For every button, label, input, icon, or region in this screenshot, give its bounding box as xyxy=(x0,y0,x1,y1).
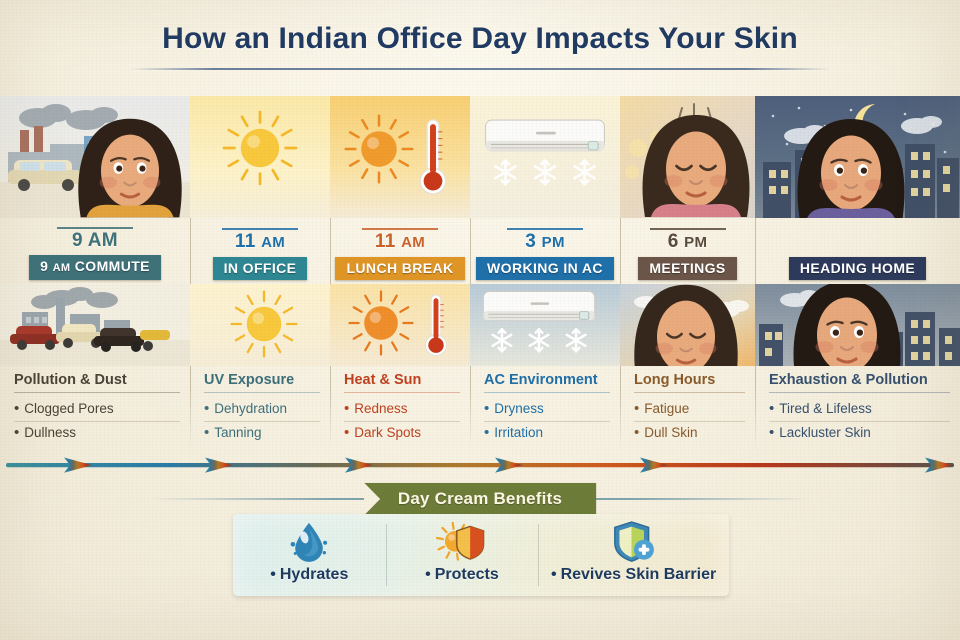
benefit-hydrates[interactable]: •Hydrates xyxy=(233,514,386,596)
effect-list-heading-home: •Tired & Lifeless•Lackluster Skin xyxy=(769,398,950,445)
timeline-arrow xyxy=(0,452,960,478)
timeline-column-heading-home: HEADING HOME xyxy=(755,96,960,456)
effect-list-commute: •Clogged Pores•Dullness xyxy=(14,398,180,445)
scene-traffic-smokestacks-scene xyxy=(0,284,190,366)
effect-item: •Fatigue xyxy=(634,398,745,421)
time-label-meetings: 6 PM xyxy=(668,232,708,253)
effect-item: •Irritation xyxy=(484,421,610,445)
stage-badge-meetings[interactable]: MEETINGS xyxy=(638,257,736,280)
scene-hot-sun-thermometer-scene xyxy=(330,96,470,218)
effect-list-in-office: •Dehydration•Tanning xyxy=(204,398,320,445)
water-drop-icon xyxy=(286,519,332,565)
time-badge-block-heading-home: HEADING HOME xyxy=(755,218,960,284)
timeline-column-working-in-ac: 3 PM WORKING IN AC xyxy=(470,96,620,456)
scene-air-conditioner-snowflakes-scene xyxy=(470,96,620,218)
stage-badge-in-office[interactable]: IN OFFICE xyxy=(213,257,308,280)
timeline-column-meetings: 6 PM MEETINGS Long Hours xyxy=(620,96,755,456)
effect-item: •Dehydration xyxy=(204,398,320,421)
scene-night-city-moon-commuter-scene xyxy=(755,96,960,218)
infographic-canvas: How an Indian Office Day Impacts Your Sk… xyxy=(0,0,960,640)
effect-item: •Dryness xyxy=(484,398,610,421)
timeline-column-lunch-break: 11 AM LUNCH BREAK Heat & Sun xyxy=(330,96,470,456)
scene-yellow-sun-icon xyxy=(190,284,330,366)
timeline-column-commute: 9 AM 9 AM COMMUTE Pollution & xyxy=(0,96,190,456)
timeline-column-in-office: 11 AM IN OFFICE UV Exposure •Dehydration… xyxy=(190,96,330,456)
effect-list-lunch-break: •Redness•Dark Spots xyxy=(344,398,460,445)
benefit-label: •Protects xyxy=(425,566,499,584)
effects-block-working-in-ac: AC Environment •Dryness•Irritation xyxy=(470,366,620,456)
effects-block-lunch-break: Heat & Sun •Redness•Dark Spots xyxy=(330,366,470,456)
scene-orange-sun-thermometer-icon xyxy=(330,284,470,366)
benefit-label: •Revives Skin Barrier xyxy=(551,566,716,584)
benefit-label: •Hydrates xyxy=(270,566,348,584)
effect-title-in-office: UV Exposure xyxy=(204,372,320,389)
effect-title-lunch-break: Heat & Sun xyxy=(344,372,460,389)
effect-item: •Dullness xyxy=(14,421,180,445)
benefits-panel: •Hydrates •Protects •Revives Skin Barrie… xyxy=(233,514,729,596)
scene-night-skyline-woman-scene xyxy=(755,284,960,366)
time-badge-block-working-in-ac: 3 PM WORKING IN AC xyxy=(470,218,620,284)
effect-title-working-in-ac: AC Environment xyxy=(484,372,610,389)
time-badge-block-meetings: 6 PM MEETINGS xyxy=(620,218,755,284)
effect-title-meetings: Long Hours xyxy=(634,372,745,389)
effects-block-in-office: UV Exposure •Dehydration•Tanning xyxy=(190,366,330,456)
time-label-commute: 9 AM xyxy=(72,231,118,251)
stage-badge-lunch-break[interactable]: LUNCH BREAK xyxy=(335,257,464,280)
effects-block-heading-home: Exhaustion & Pollution •Tired & Lifeless… xyxy=(755,366,960,456)
ribbon-rule-right xyxy=(596,498,810,500)
effect-item: •Lackluster Skin xyxy=(769,421,950,445)
effect-title-heading-home: Exhaustion & Pollution xyxy=(769,372,950,389)
time-label-working-in-ac: 3 PM xyxy=(525,232,565,253)
title-underline xyxy=(130,68,830,70)
stage-badge-commute[interactable]: 9 AM COMMUTE xyxy=(29,255,161,280)
benefit-revives-skin-barrier[interactable]: •Revives Skin Barrier xyxy=(538,514,729,596)
scene-tired-woman-meeting-scene xyxy=(620,96,755,218)
effect-list-working-in-ac: •Dryness•Irritation xyxy=(484,398,610,445)
time-label-lunch-break: 11 AM xyxy=(375,232,425,253)
shield-plus-icon xyxy=(610,519,658,565)
ribbon-rule-left xyxy=(150,498,364,500)
stage-badge-heading-home[interactable]: HEADING HOME xyxy=(789,257,926,280)
scene-city-pollution-commuter-scene xyxy=(0,96,190,218)
effects-block-meetings: Long Hours •Fatigue•Dull Skin xyxy=(620,366,755,456)
page-title: How an Indian Office Day Impacts Your Sk… xyxy=(0,22,960,56)
scene-bright-sun-scene xyxy=(190,96,330,218)
sun-shield-icon xyxy=(436,519,488,565)
effect-item: •Dull Skin xyxy=(634,421,745,445)
effect-item: •Tired & Lifeless xyxy=(769,398,950,421)
benefits-ribbon-label: Day Cream Benefits xyxy=(364,483,596,516)
effect-item: •Dark Spots xyxy=(344,421,460,445)
benefits-ribbon-row: Day Cream Benefits xyxy=(0,484,960,514)
effect-title-commute: Pollution & Dust xyxy=(14,372,180,389)
effect-list-meetings: •Fatigue•Dull Skin xyxy=(634,398,745,445)
effect-item: •Redness xyxy=(344,398,460,421)
time-badge-block-in-office: 11 AM IN OFFICE xyxy=(190,218,330,284)
effect-item: •Clogged Pores xyxy=(14,398,180,421)
effects-block-commute: Pollution & Dust •Clogged Pores•Dullness xyxy=(0,366,190,456)
time-badge-block-commute: 9 AM 9 AM COMMUTE xyxy=(0,218,190,284)
time-badge-block-lunch-break: 11 AM LUNCH BREAK xyxy=(330,218,470,284)
title-block: How an Indian Office Day Impacts Your Sk… xyxy=(0,22,960,70)
scene-ac-unit-snowflakes-icon xyxy=(470,284,620,366)
timeline-columns: 9 AM 9 AM COMMUTE Pollution & xyxy=(0,96,960,456)
time-label-in-office: 11 AM xyxy=(235,232,285,253)
stage-badge-working-in-ac[interactable]: WORKING IN AC xyxy=(476,257,614,280)
scene-exhausted-woman-desk-scene xyxy=(620,284,755,366)
effect-item: •Tanning xyxy=(204,421,320,445)
benefit-protects[interactable]: •Protects xyxy=(386,514,539,596)
